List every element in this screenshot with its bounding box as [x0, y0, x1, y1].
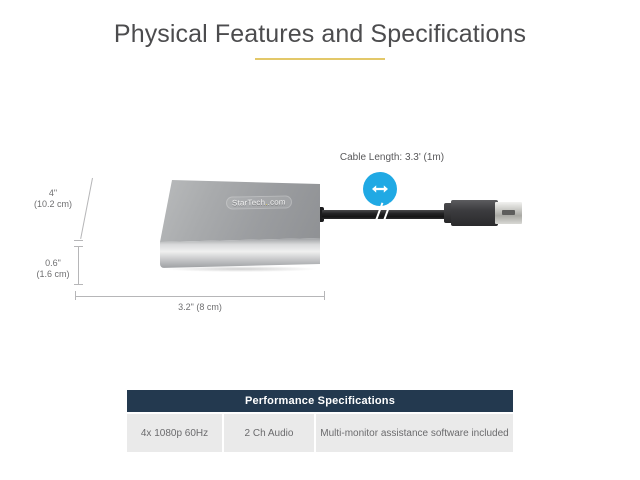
usb-connector-slot [502, 210, 515, 215]
performance-specifications-table: Performance Specifications 4x 1080p 60Hz… [127, 390, 513, 452]
dimension-height-metric: (10.2 cm) [24, 199, 82, 210]
dimension-tick-width-right [324, 291, 325, 300]
dimension-depth-line [78, 246, 79, 284]
brand-logo: StarTech..com [226, 195, 292, 209]
double-arrow-icon [363, 172, 397, 206]
device-shadow [166, 266, 316, 272]
dimension-tick-height-bottom [74, 240, 83, 241]
spec-cell-audio: 2 Ch Audio [224, 414, 314, 452]
device-top-face: StarTech..com [160, 180, 320, 242]
spec-table-row: 4x 1080p 60Hz 2 Ch Audio Multi-monitor a… [127, 414, 513, 452]
brand-logo-suffix: .com [268, 198, 286, 207]
cable-length-badge [363, 172, 397, 206]
usb-connector-housing [451, 200, 498, 226]
dimension-height-line [80, 178, 93, 239]
product-illustration: Cable Length: 3.3' (1m) StarTech..com 4"… [0, 90, 640, 370]
device-body: StarTech..com [160, 180, 320, 300]
spec-cell-resolution: 4x 1080p 60Hz [127, 414, 222, 452]
dimension-tick-depth-bottom [74, 284, 83, 285]
dimension-width-label: 3.2" (8 cm) [140, 302, 260, 313]
device-front-face [160, 238, 320, 268]
dimension-height-imperial: 4" [24, 188, 82, 199]
dimension-depth-label: 0.6" (1.6 cm) [24, 258, 82, 280]
dimension-tick-width-left [75, 291, 76, 300]
dimension-width-line [75, 296, 325, 297]
title-accent-rule [255, 58, 385, 60]
spec-cell-software: Multi-monitor assistance software includ… [316, 414, 513, 452]
cable-length-label: Cable Length: 3.3' (1m) [322, 152, 462, 163]
dimension-depth-imperial: 0.6" [24, 258, 82, 269]
dimension-tick-depth-top [74, 246, 83, 247]
page-title: Physical Features and Specifications [0, 20, 640, 49]
dimension-height-label: 4" (10.2 cm) [24, 188, 82, 210]
brand-logo-name: StarTech [232, 198, 265, 208]
dimension-depth-metric: (1.6 cm) [24, 269, 82, 280]
cable-break-marker [371, 202, 395, 228]
spec-table-header: Performance Specifications [127, 390, 513, 412]
